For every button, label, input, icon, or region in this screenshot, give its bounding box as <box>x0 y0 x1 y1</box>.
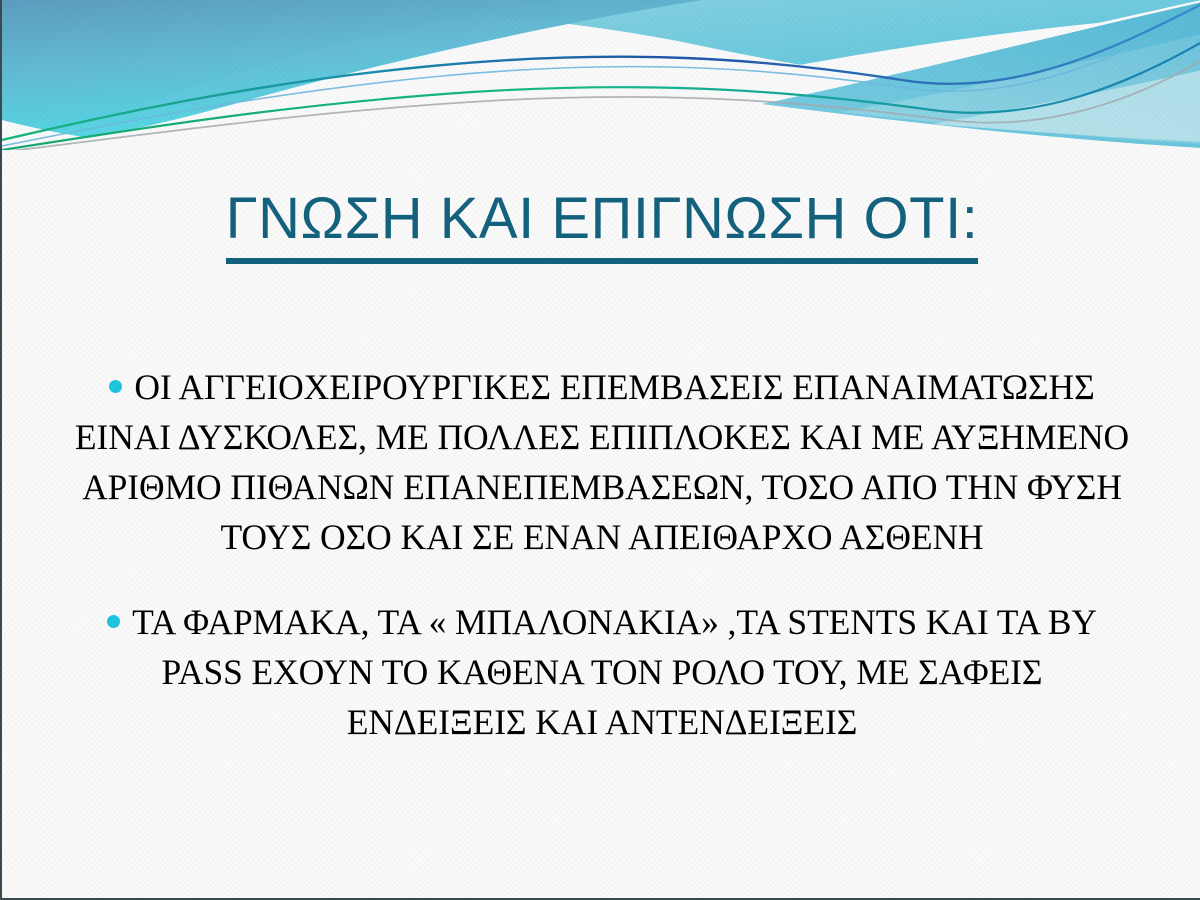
content-body: ΟΙ ΑΓΓΕΙΟΧΕΙΡΟΥΡΓΙΚΕΣ ΕΠΕΜΒΑΣΕΙΣ ΕΠΑΝΑΙΜ… <box>74 326 1130 783</box>
presentation-slide: ΓΝΩΣΗ ΚΑΙ ΕΠΙΓΝΩΣΗ ΟΤΙ: ΟΙ ΑΓΓΕΙΟΧΕΙΡΟΥΡ… <box>0 0 1200 900</box>
list-item: ΤΑ ΦΑΡΜΑΚΑ, ΤΑ « ΜΠΑΛΟΝΑΚΙΑ» ,ΤΑ STENTS … <box>74 597 1130 747</box>
wave-banner-svg <box>2 0 1200 150</box>
list-item-text: ΤΑ ΦΑΡΜΑΚΑ, ΤΑ « ΜΠΑΛΟΝΑΚΙΑ» ,ΤΑ STENTS … <box>132 602 1097 742</box>
page-title: ΓΝΩΣΗ ΚΑΙ ΕΠΙΓΝΩΣΗ ΟΤΙ: <box>226 189 979 264</box>
title-container: ΓΝΩΣΗ ΚΑΙ ΕΠΙΓΝΩΣΗ ΟΤΙ: <box>2 150 1200 303</box>
list-item-text: ΟΙ ΑΓΓΕΙΟΧΕΙΡΟΥΡΓΙΚΕΣ ΕΠΕΜΒΑΣΕΙΣ ΕΠΑΝΑΙΜ… <box>75 367 1129 557</box>
bullet-dot-icon <box>107 615 120 628</box>
bullet-dot-icon <box>109 380 122 393</box>
list-item: ΟΙ ΑΓΓΕΙΟΧΕΙΡΟΥΡΓΙΚΕΣ ΕΠΕΜΒΑΣΕΙΣ ΕΠΑΝΑΙΜ… <box>74 362 1130 562</box>
wave-banner-decoration <box>2 0 1200 150</box>
